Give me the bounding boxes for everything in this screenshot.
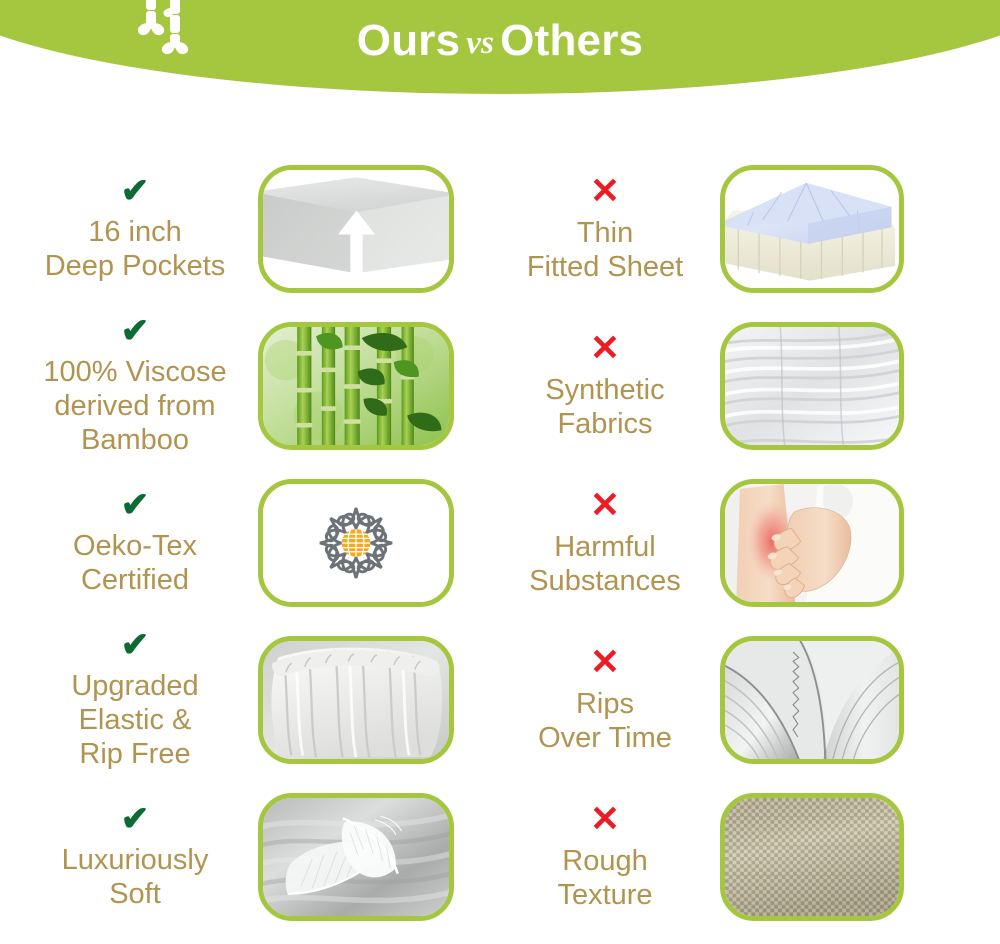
header-banner: OursvsOthers — [0, 0, 1000, 96]
ours-label-cell: ✔ 16 inch Deep Pockets — [0, 174, 258, 283]
white-feather-on-silk-image — [258, 793, 454, 921]
others-label-cell: ✕ Rips Over Time — [490, 644, 720, 755]
check-icon: ✔ — [121, 628, 150, 662]
others-column-cell: ✕ Thin Fitted Sheet — [490, 150, 1000, 307]
others-label: Rough Texture — [557, 844, 652, 912]
cross-icon: ✕ — [590, 330, 620, 366]
comparison-row: ✔ 100% Viscose derived from Bamboo — [0, 307, 1000, 464]
ripped-torn-fabric-image — [720, 636, 904, 764]
comparison-row: ✔ Luxuriously Soft — [0, 778, 1000, 935]
others-label: Thin Fitted Sheet — [527, 216, 683, 284]
cross-icon: ✕ — [590, 801, 620, 837]
oeko-tex-certification-logo — [258, 479, 454, 607]
ours-label-cell: ✔ Oeko-Tex Certified — [0, 488, 258, 597]
others-label-cell: ✕ Rough Texture — [490, 801, 720, 912]
others-label: Harmful Substances — [529, 530, 681, 598]
thin-fitted-sheet-mattress-image — [720, 165, 904, 293]
others-label-cell: ✕ Harmful Substances — [490, 487, 720, 598]
ours-label: 16 inch Deep Pockets — [45, 215, 226, 283]
ours-label: 100% Viscose derived from Bamboo — [43, 355, 226, 458]
skin-irritation-scratching-arm-image — [720, 479, 904, 607]
ours-column-cell: ✔ 16 inch Deep Pockets — [0, 150, 490, 307]
comparison-grid: ✔ 16 inch Deep Pockets — [0, 150, 1000, 935]
rough-burlap-weave-texture-image — [720, 793, 904, 921]
ours-column-cell: ✔ 100% Viscose derived from Bamboo — [0, 307, 490, 464]
cross-icon: ✕ — [590, 173, 620, 209]
others-column-cell: ✕ Synthetic Fabrics — [490, 307, 1000, 464]
check-icon: ✔ — [121, 174, 150, 208]
title-others: Others — [500, 16, 643, 65]
page-title: OursvsOthers — [0, 19, 1000, 63]
others-label-cell: ✕ Synthetic Fabrics — [490, 330, 720, 441]
title-vs: vs — [460, 25, 500, 61]
comparison-row: ✔ Upgraded Elastic & Rip Free — [0, 621, 1000, 778]
others-column-cell: ✕ Rough Texture — [490, 778, 1000, 935]
ours-column-cell: ✔ Upgraded Elastic & Rip Free — [0, 621, 490, 778]
title-ours: Ours — [357, 16, 461, 65]
check-icon: ✔ — [121, 488, 150, 522]
comparison-row: ✔ 16 inch Deep Pockets — [0, 150, 1000, 307]
ours-label-cell: ✔ Luxuriously Soft — [0, 802, 258, 911]
cross-icon: ✕ — [590, 487, 620, 523]
elastic-fitted-sheet-corner-image — [258, 636, 454, 764]
cross-icon: ✕ — [590, 644, 620, 680]
ours-label-cell: ✔ Upgraded Elastic & Rip Free — [0, 628, 258, 772]
ours-label: Upgraded Elastic & Rip Free — [71, 669, 198, 772]
ours-label: Oeko-Tex Certified — [73, 529, 197, 597]
check-icon: ✔ — [121, 802, 150, 836]
others-column-cell: ✕ Harmful Substances — [490, 464, 1000, 621]
deep-pocket-mattress-corner-image — [258, 165, 454, 293]
bamboo-stalks-image — [258, 322, 454, 450]
synthetic-white-fabric-image — [720, 322, 904, 450]
ours-column-cell: ✔ Oeko-Tex Certified — [0, 464, 490, 621]
comparison-row: ✔ Oeko-Tex Certified — [0, 464, 1000, 621]
ours-column-cell: ✔ Luxuriously Soft — [0, 778, 490, 935]
others-label: Rips Over Time — [538, 687, 672, 755]
others-column-cell: ✕ Rips Over Time — [490, 621, 1000, 778]
others-label: Synthetic Fabrics — [545, 373, 664, 441]
ours-label: Luxuriously Soft — [62, 843, 209, 911]
check-icon: ✔ — [121, 314, 150, 348]
ours-label-cell: ✔ 100% Viscose derived from Bamboo — [0, 314, 258, 458]
others-label-cell: ✕ Thin Fitted Sheet — [490, 173, 720, 284]
